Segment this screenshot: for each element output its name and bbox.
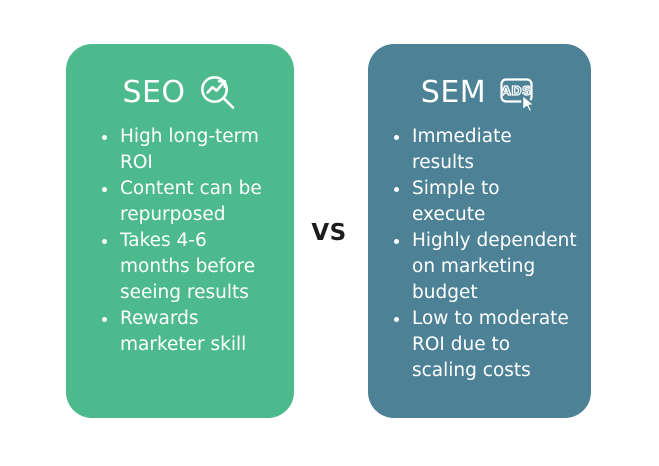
list-item: Immediate results	[390, 124, 577, 176]
list-item: Content can be repurposed	[98, 176, 280, 228]
panel-sem: SEM ADS Immediate results Simple to exec…	[368, 44, 591, 418]
panel-sem-header: SEM ADS	[382, 70, 577, 116]
seo-bullet-list: High long-term ROI Content can be repurp…	[98, 124, 280, 358]
list-item: Rewards marketer skill	[98, 306, 280, 358]
list-item: Low to moderate ROI due to scaling costs	[390, 306, 577, 384]
list-item: Takes 4-6 months before seeing results	[98, 228, 280, 306]
comparison-infographic: SEO High long-term ROI Content can be re…	[0, 0, 659, 466]
sem-bullet-list: Immediate results Simple to execute High…	[390, 124, 577, 384]
panel-sem-title: SEM	[421, 78, 486, 108]
panel-seo-header: SEO	[80, 70, 280, 116]
panel-seo: SEO High long-term ROI Content can be re…	[66, 44, 294, 418]
list-item: Simple to execute	[390, 176, 577, 228]
magnifier-trend-icon	[198, 73, 238, 113]
list-item: Highly dependent on marketing budget	[390, 228, 577, 306]
ads-cursor-icon: ADS	[498, 73, 538, 113]
vs-divider-label: VS	[296, 220, 362, 246]
svg-text:ADS: ADS	[501, 83, 531, 98]
list-item: High long-term ROI	[98, 124, 280, 176]
panel-seo-title: SEO	[122, 78, 185, 108]
